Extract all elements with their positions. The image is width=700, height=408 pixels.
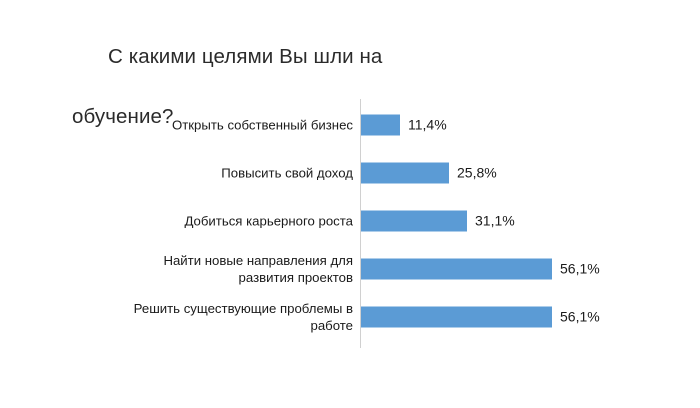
bar-row: Найти новые направления для развития про…	[0, 245, 700, 293]
bar[interactable]	[361, 307, 552, 328]
bar-value-label: 11,4%	[408, 117, 447, 134]
chart-title-line-1: С какими целями Вы шли на	[72, 42, 632, 72]
bars-layer: Открыть собственный бизнес11,4%Повысить …	[0, 99, 700, 349]
bar-value-label: 56,1%	[560, 309, 600, 326]
category-label: Повысить свой доход	[83, 165, 353, 182]
category-label: Решить существующие проблемы в работе	[83, 300, 353, 334]
category-label: Добиться карьерного роста	[83, 213, 353, 230]
bar-value-label: 25,8%	[457, 165, 497, 182]
bar-row: Повысить свой доход25,8%	[0, 149, 700, 197]
bar[interactable]	[361, 115, 400, 136]
bar[interactable]	[361, 211, 467, 232]
bar[interactable]	[361, 163, 449, 184]
plot-area: Открыть собственный бизнес11,4%Повысить …	[0, 99, 700, 349]
bar-row: Добиться карьерного роста31,1%	[0, 197, 700, 245]
bar-chart: С какими целями Вы шли на обучение? Откр…	[0, 0, 700, 408]
bar-row: Решить существующие проблемы в работе56,…	[0, 293, 700, 341]
bar[interactable]	[361, 259, 552, 280]
bar-row: Открыть собственный бизнес11,4%	[0, 101, 700, 149]
bar-value-label: 31,1%	[475, 213, 515, 230]
category-label: Найти новые направления для развития про…	[83, 252, 353, 286]
bar-value-label: 56,1%	[560, 261, 600, 278]
category-label: Открыть собственный бизнес	[83, 117, 353, 134]
